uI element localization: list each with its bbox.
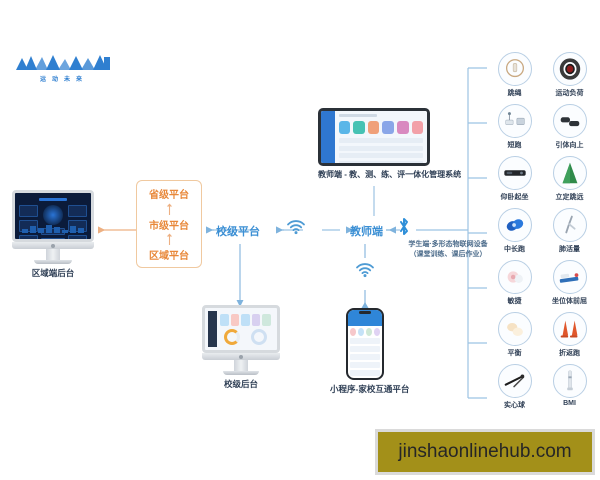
company-logo: 运动未来 <box>16 54 116 86</box>
imac-school <box>202 305 280 375</box>
imac-foot <box>223 371 259 375</box>
device-label: 坐位体前屈 <box>542 296 597 306</box>
imac-neck <box>234 360 248 371</box>
device-label: 折返跑 <box>542 348 597 358</box>
dashboard-charts <box>220 329 271 345</box>
imac-school-screen <box>202 305 280 353</box>
device-label: BMI <box>542 400 597 407</box>
device-row: 跳绳 运动负荷 <box>487 52 597 104</box>
solid-ball-icon <box>498 364 532 398</box>
sit-and-reach-icon <box>553 260 587 294</box>
device-row: 仰卧起坐 立定跳远 <box>487 156 597 208</box>
school-backend-caption: 校级后台 <box>202 379 280 390</box>
teacher-system-node: 教师端 - 教、测、练、评一体化管理系统 <box>318 108 430 181</box>
phone-quick-actions <box>348 326 382 338</box>
school-dashboard <box>208 311 274 347</box>
up-arrow-icon <box>166 233 173 245</box>
diagram-canvas: 运动未来 <box>0 0 600 480</box>
sit-up-sensor-icon <box>498 156 532 190</box>
pull-up-sensor-icon <box>553 104 587 138</box>
tablet-sidebar <box>321 111 335 163</box>
device-label: 引体向上 <box>542 140 597 150</box>
imac-region <box>12 190 94 264</box>
device-label: 敏捷 <box>487 296 542 306</box>
imac-chin <box>12 242 94 249</box>
device-cell-fitness-band[interactable]: 运动负荷 <box>542 52 597 98</box>
region-backend-node: 区域端后台 <box>12 190 94 279</box>
dashboard-sidebar <box>208 311 217 347</box>
imac-foot <box>34 260 72 264</box>
dashboard-body <box>217 311 274 347</box>
phone-notch <box>359 311 371 314</box>
iot-device-grid: 跳绳 运动负荷 <box>487 52 597 416</box>
logo-subtext: 运动未来 <box>16 74 112 83</box>
device-cell-balance[interactable]: 平衡 <box>487 312 542 358</box>
watermark-text: jinshaonlinehub.com <box>398 441 571 463</box>
device-label: 中长跑 <box>487 244 542 254</box>
school-backend-node: 校级后台 <box>202 305 280 390</box>
teacher-client-label: 教师端 <box>350 223 383 239</box>
phone-device <box>346 308 384 380</box>
watermark-banner: jinshaonlinehub.com <box>378 432 592 472</box>
device-cell-vital-capacity[interactable]: 肺活量 <box>542 208 597 254</box>
platform-label-province: 省级平台 <box>149 186 189 201</box>
teacher-system-ui <box>321 111 427 163</box>
miniprogram-caption: 小程序-家校互通平台 <box>330 384 400 395</box>
logo-mark-icon <box>16 54 112 72</box>
device-row: 敏捷 坐位体前屈 <box>487 260 597 312</box>
platform-label-region: 区域平台 <box>149 247 189 262</box>
platform-hierarchy-box: 省级平台 市级平台 区域平台 <box>136 180 202 268</box>
tablet-table-rows <box>339 138 423 166</box>
device-cell-sit-and-reach[interactable]: 坐位体前屈 <box>542 260 597 306</box>
device-cell-solid-ball[interactable]: 实心球 <box>487 364 542 410</box>
device-row: 短跑 引体向上 <box>487 104 597 156</box>
vital-capacity-icon <box>553 208 587 242</box>
phone-list <box>348 338 382 376</box>
imac-chin <box>202 353 280 360</box>
dashboard-kpi-tiles <box>220 314 271 326</box>
imac-region-screen <box>12 190 94 242</box>
tablet-header-bar <box>339 114 377 117</box>
device-cell-distance-run[interactable]: 中长跑 <box>487 208 542 254</box>
device-label: 仰卧起坐 <box>487 192 542 202</box>
device-label: 肺活量 <box>542 244 597 254</box>
dashboard-title-bar <box>39 198 67 201</box>
device-cell-shuttle-run[interactable]: 折返跑 <box>542 312 597 358</box>
device-row: 平衡 折返跑 <box>487 312 597 364</box>
tablet-content <box>335 111 427 163</box>
device-cell-sprint[interactable]: 短跑 <box>487 104 542 150</box>
device-label: 运动负荷 <box>542 88 597 98</box>
miniprogram-node: 小程序-家校互通平台 <box>330 308 400 395</box>
device-cell-jump-rope[interactable]: 跳绳 <box>487 52 542 98</box>
tablet-feature-icons <box>339 121 423 134</box>
device-label: 平衡 <box>487 348 542 358</box>
device-cell-bmi[interactable]: BMI <box>542 364 597 410</box>
shuttle-run-cones-icon <box>553 312 587 346</box>
donut-chart <box>224 329 240 345</box>
device-label: 跳绳 <box>487 88 542 98</box>
balance-icon <box>498 312 532 346</box>
region-backend-caption: 区域端后台 <box>12 268 94 279</box>
long-jump-mat-icon <box>553 156 587 190</box>
device-row: 实心球 BMI <box>487 364 597 416</box>
device-cell-sit-up[interactable]: 仰卧起坐 <box>487 156 542 202</box>
sprint-sensor-icon <box>498 104 532 138</box>
device-label: 立定跳远 <box>542 192 597 202</box>
device-row: 中长跑 肺活量 <box>487 208 597 260</box>
bluetooth-icon <box>397 216 411 238</box>
platform-label-city: 市级平台 <box>149 217 189 232</box>
device-cell-pull-up[interactable]: 引体向上 <box>542 104 597 150</box>
wifi-icon <box>286 219 306 235</box>
jump-rope-icon <box>498 52 532 86</box>
distance-run-chip-icon <box>498 208 532 242</box>
up-arrow-icon <box>166 203 173 215</box>
imac-neck <box>46 249 61 260</box>
dashboard-bars <box>22 223 84 233</box>
teacher-system-caption: 教师端 - 教、测、练、评一体化管理系统 <box>318 170 430 181</box>
agility-icon <box>498 260 532 294</box>
region-dashboard <box>18 196 88 236</box>
device-label: 短跑 <box>487 140 542 150</box>
wifi-icon <box>355 262 375 278</box>
device-cell-long-jump[interactable]: 立定跳远 <box>542 156 597 202</box>
school-platform-label: 校级平台 <box>216 223 260 239</box>
tablet-device <box>318 108 430 166</box>
fitness-band-icon <box>553 52 587 86</box>
device-cell-agility[interactable]: 敏捷 <box>487 260 542 306</box>
donut-chart-secondary <box>251 329 267 345</box>
bmi-scale-icon <box>553 364 587 398</box>
device-label: 实心球 <box>487 400 542 410</box>
